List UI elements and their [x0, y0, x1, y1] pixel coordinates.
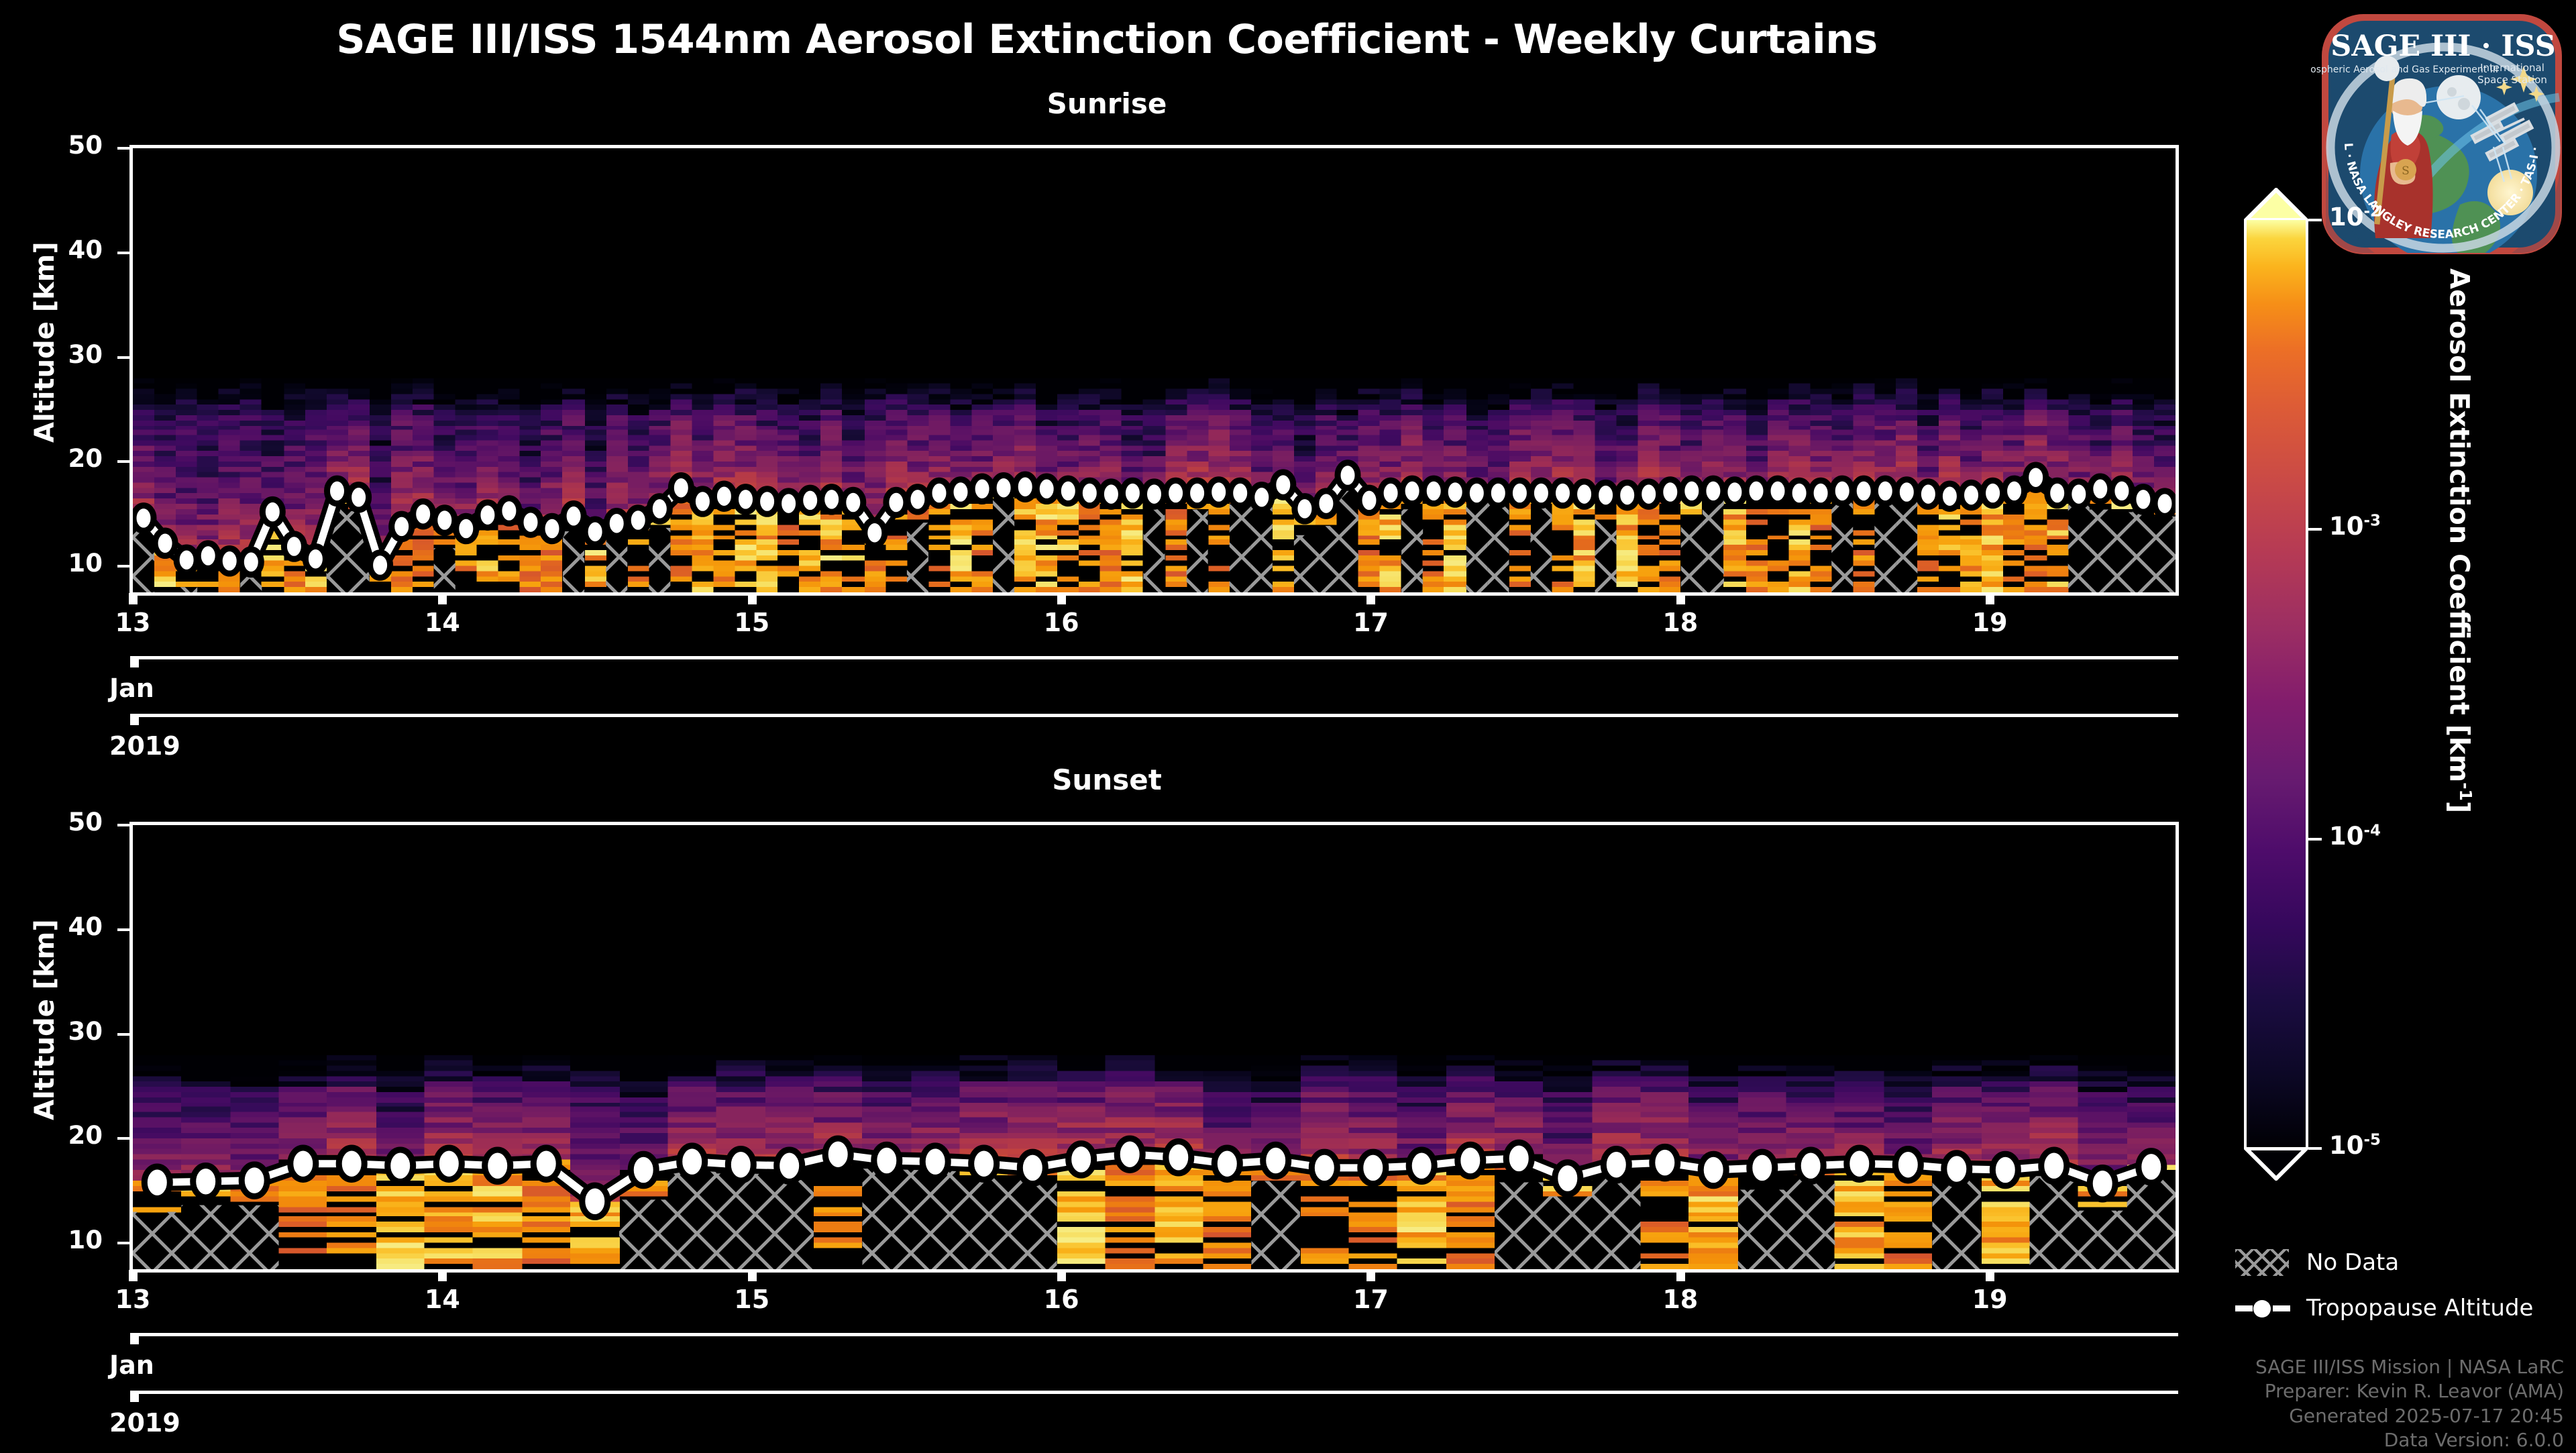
- colorbar-tick-label: 10-3: [2329, 512, 2381, 541]
- patch-subtitle-right-2: Space Station: [2477, 74, 2547, 86]
- sunset-year-label: 2019: [109, 1408, 180, 1438]
- no-data-hatch-icon: [2235, 1249, 2289, 1276]
- footer-line-generated: Generated 2025-07-17 20:45: [2255, 1404, 2564, 1428]
- sunrise-year-tick: [130, 714, 139, 725]
- sunset-year-rule: [130, 1391, 2178, 1394]
- colorbar-tick-label: 10-4: [2329, 822, 2381, 851]
- sunset-ytick-mark: [117, 824, 129, 826]
- sunrise-curtain-plot[interactable]: [129, 145, 2179, 596]
- footer-line-data-version: Data Version: 6.0.0: [2255, 1428, 2564, 1452]
- colorbar-tick-mark: [2308, 1147, 2322, 1150]
- sunset-ytick-label: 50: [22, 808, 103, 837]
- sunset-ytick-label: 10: [22, 1226, 103, 1254]
- sunrise-year-rule: [130, 714, 2178, 717]
- footer-credits: SAGE III/ISS Mission | NASA LaRC Prepare…: [2255, 1355, 2564, 1453]
- sunset-ytick-mark: [117, 928, 129, 931]
- legend-item-no-data[interactable]: No Data: [2235, 1249, 2399, 1276]
- footer-line-preparer: Preparer: Kevin R. Leavor (AMA): [2255, 1379, 2564, 1403]
- colorbar-cap-bottom: [2244, 1147, 2308, 1181]
- panel-title-sunset: Sunset: [0, 763, 2214, 796]
- sunset-year-tick: [130, 1391, 139, 1402]
- sunset-ytick-mark: [117, 1137, 129, 1140]
- legend-item-tropopause[interactable]: Tropopause Altitude: [2235, 1295, 2533, 1322]
- sunrise-xtick-label: 18: [1662, 608, 1698, 637]
- sunset-title: Sunset: [0, 763, 2214, 796]
- sunrise-ytick-label: 20: [22, 444, 103, 473]
- sunrise-xtick-label: 13: [115, 608, 151, 637]
- sunset-ytick-mark: [117, 1242, 129, 1244]
- sunset-ytick-mark: [117, 1033, 129, 1036]
- svg-text:S: S: [2402, 164, 2410, 178]
- sunrise-xtick-label: 15: [734, 608, 769, 637]
- colorbar-title: Aerosol Extinction Coefficient [km-1]: [2444, 268, 2475, 813]
- sunrise-ytick-mark: [117, 356, 129, 359]
- colorbar-title-exponent: -1: [2456, 782, 2475, 801]
- sunrise-xtick-label: 14: [425, 608, 460, 637]
- colorbar-tick-mark: [2308, 838, 2322, 841]
- sunset-month-rule: [130, 1333, 2178, 1336]
- sunset-xtick-label: 18: [1662, 1285, 1698, 1314]
- colorbar-title-tail: ]: [2444, 801, 2475, 813]
- sunset-xtick-label: 16: [1044, 1285, 1079, 1314]
- sunset-ytick-label: 20: [22, 1121, 103, 1150]
- sunrise-xtick-label: 16: [1044, 608, 1079, 637]
- sunrise-ytick-mark: [117, 252, 129, 254]
- sunset-xtick-label: 13: [115, 1285, 151, 1314]
- sunset-xtick-label: 19: [1972, 1285, 2008, 1314]
- sunrise-year-label: 2019: [109, 731, 180, 761]
- footer-line-mission: SAGE III/ISS Mission | NASA LaRC: [2255, 1355, 2564, 1379]
- colorbar[interactable]: [2244, 188, 2308, 1181]
- colorbar-cap-top: [2244, 188, 2308, 221]
- sunrise-month-label: Jan: [109, 674, 154, 703]
- colorbar-tick-mark: [2308, 528, 2322, 531]
- sunset-month-tick: [130, 1333, 139, 1344]
- sunrise-month-tick: [130, 656, 139, 667]
- colorbar-title-text: Aerosol Extinction Coefficient [km: [2444, 268, 2475, 782]
- sunset-month-label: Jan: [109, 1350, 154, 1380]
- sunset-yaxis-title: Altitude [km]: [30, 919, 60, 1120]
- sunset-xtick-label: 14: [425, 1285, 460, 1314]
- colorbar-tick-label: 10-2: [2329, 203, 2381, 231]
- sunrise-month-rule: [130, 656, 2178, 659]
- sunset-curtain-plot[interactable]: [129, 822, 2179, 1273]
- sunrise-title: Sunrise: [0, 87, 2214, 120]
- panel-title-sunrise: Sunrise: [0, 87, 2214, 120]
- patch-subtitle-right-1: International: [2480, 62, 2544, 74]
- sunrise-ytick-label: 50: [22, 131, 103, 160]
- sunrise-tropopause-line: [133, 148, 2176, 592]
- colorbar-tick-label: 10-5: [2329, 1131, 2381, 1160]
- sunrise-yaxis-title: Altitude [km]: [30, 241, 60, 443]
- colorbar-gradient: [2244, 220, 2308, 1148]
- tropopause-marker-icon: [2235, 1295, 2289, 1322]
- sunset-xtick-label: 17: [1353, 1285, 1389, 1314]
- sunrise-xtick-label: 17: [1353, 608, 1389, 637]
- sunrise-ytick-label: 10: [22, 549, 103, 578]
- legend-label-tropopause: Tropopause Altitude: [2306, 1295, 2533, 1322]
- sunrise-ytick-mark: [117, 147, 129, 150]
- sunrise-ytick-mark: [117, 460, 129, 463]
- sunset-xtick-label: 15: [734, 1285, 769, 1314]
- patch-title: SAGE III · ISS: [2330, 30, 2555, 63]
- page-title: SAGE III/ISS 1544nm Aerosol Extinction C…: [0, 16, 2214, 63]
- patch-subtitle-left: Stratospheric Aerosol and Gas Experiment…: [2311, 64, 2498, 75]
- legend-label-no-data: No Data: [2306, 1249, 2399, 1276]
- sunrise-xtick-label: 19: [1972, 608, 2008, 637]
- sunset-tropopause-line: [133, 825, 2176, 1269]
- colorbar-tick-mark: [2308, 219, 2322, 221]
- sunrise-ytick-mark: [117, 565, 129, 568]
